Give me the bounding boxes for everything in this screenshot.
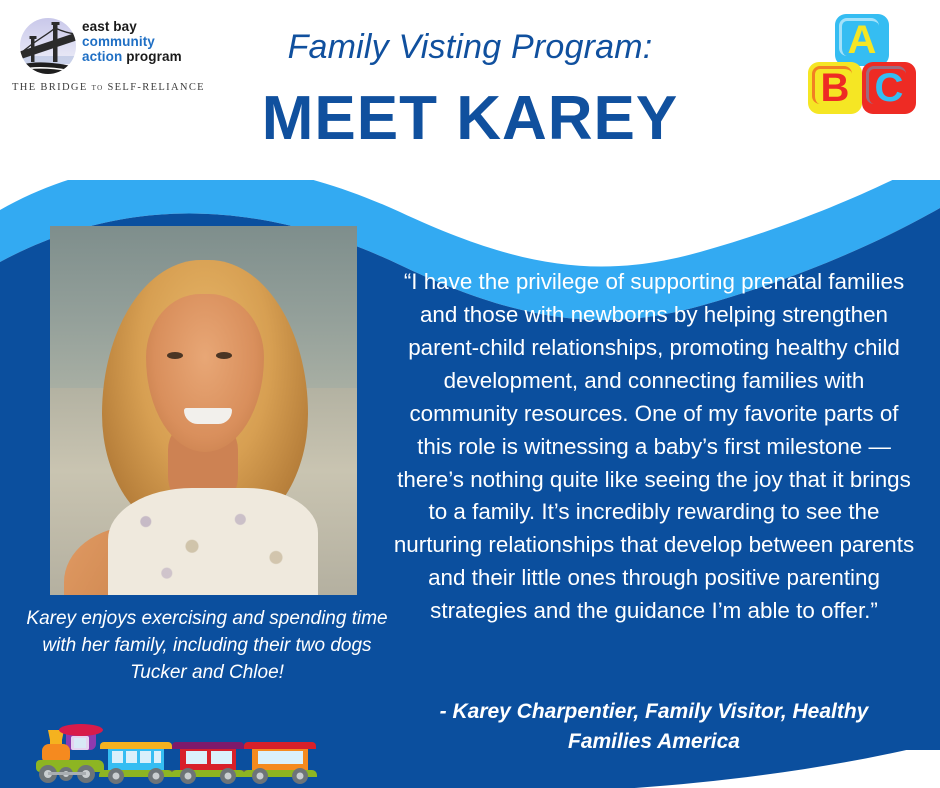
photo-eye-right — [216, 352, 232, 359]
abc-block-a: A — [835, 14, 889, 66]
photo-blouse — [108, 488, 318, 595]
photo-caption: Karey enjoys exercising and spending tim… — [22, 606, 392, 687]
photo-blouse-pattern — [108, 488, 318, 595]
train-car-1 — [99, 742, 173, 784]
photo-smile — [184, 408, 232, 424]
karey-portrait-photo — [50, 226, 357, 595]
header-band: east bay community action program THE BR… — [0, 0, 940, 180]
abc-block-c: C — [862, 62, 916, 114]
abc-block-c-letter: C — [875, 68, 904, 108]
toy-train-icon — [28, 718, 324, 788]
abc-block-a-letter: A — [848, 20, 877, 60]
poster-canvas: east bay community action program THE BR… — [0, 0, 940, 788]
photo-eye-left — [167, 352, 183, 359]
abc-block-b: B — [808, 62, 862, 114]
train-locomotive — [36, 724, 104, 783]
abc-blocks-icon: A B C — [808, 14, 916, 118]
quote-text: “I have the privilege of supporting pren… — [392, 266, 916, 628]
abc-block-b-letter: B — [821, 68, 850, 108]
quote-attribution: - Karey Charpentier, Family Visitor, Hea… — [398, 697, 910, 758]
page-title: MEET KAREY — [0, 83, 940, 154]
train-car-2 — [171, 742, 245, 784]
page-kicker: Family Visting Program: — [0, 28, 940, 67]
train-car-3 — [243, 742, 317, 784]
